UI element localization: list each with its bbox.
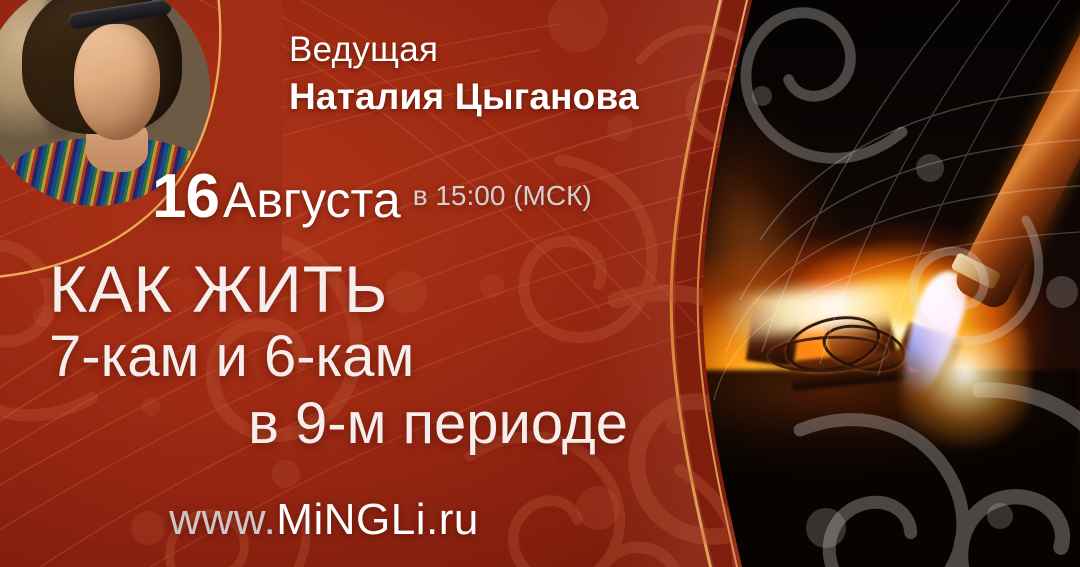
date-day: 16 <box>152 162 219 231</box>
headline-line-1: КАК ЖИТЬ <box>0 256 648 322</box>
webinar-banner: Ведущая Наталия Цыганова 16Августав 15:0… <box>0 0 1080 567</box>
host-name: Наталия Цыганова <box>289 76 639 118</box>
headline-line-2: 7-кам и 6-кам <box>0 328 648 386</box>
website-url[interactable]: www.MiNGLi.ru <box>0 495 648 545</box>
url-domain: MiNGLi.ru <box>276 495 479 544</box>
headline: КАК ЖИТЬ 7-кам и 6-кам в 9-м периоде <box>0 256 648 455</box>
host-label: Ведущая <box>289 30 438 70</box>
event-date: 16Августав 15:00 (МСК) <box>152 161 592 232</box>
date-time: в 15:00 (МСК) <box>413 180 592 211</box>
date-month: Августа <box>223 172 401 228</box>
avatar-face <box>74 24 160 140</box>
url-prefix: www. <box>169 495 276 544</box>
headline-line-3: в 9-м периоде <box>0 394 648 455</box>
